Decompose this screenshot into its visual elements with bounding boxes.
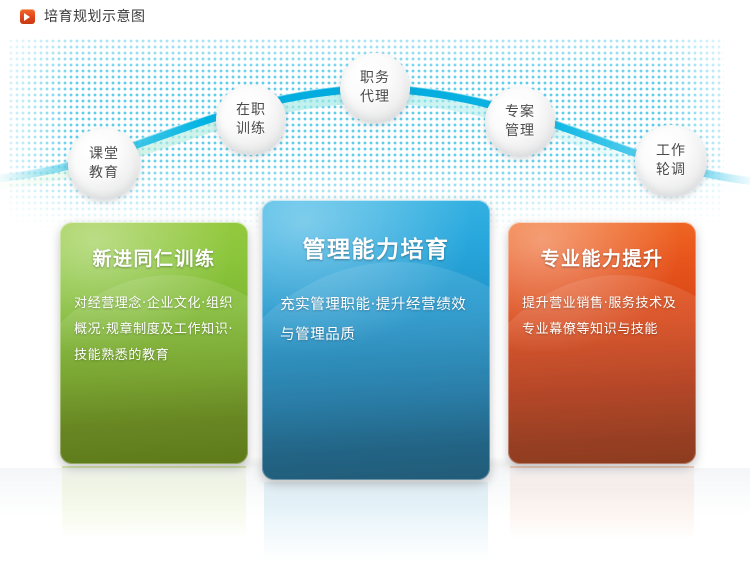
panel-body: 充实管理职能‧提升经营绩效与管理品质 — [280, 290, 474, 350]
panel-professional-capability[interactable]: 专业能力提升 提升营业销售‧服务技术及专业幕僚等知识与技能 — [508, 222, 696, 464]
flow-node-label: 课堂 教育 — [89, 145, 119, 183]
panel-new-employee-training[interactable]: 新进同仁训练 对经营理念‧企业文化‧组织概况‧规章制度及工作知识‧技能熟悉的教育 — [60, 222, 248, 464]
panel-body: 提升营业销售‧服务技术及专业幕僚等知识与技能 — [522, 291, 684, 343]
flow-node-label: 职务 代理 — [360, 69, 390, 107]
flow-node-label-line1: 专案 — [505, 104, 535, 120]
flow-node-classroom-education[interactable]: 课堂 教育 — [68, 128, 140, 200]
flow-node-label-line2: 教育 — [89, 165, 119, 181]
panel-reflection-blue — [264, 482, 488, 562]
flow-node-label-line2: 训练 — [236, 121, 266, 137]
flow-node-label-line2: 管理 — [505, 123, 535, 139]
flow-node-label-line1: 职务 — [360, 70, 390, 86]
panel-reflection-green — [62, 466, 246, 540]
panel-body: 对经营理念‧企业文化‧组织概况‧规章制度及工作知识‧技能熟悉的教育 — [74, 291, 236, 369]
diagram-canvas: 培育规划示意图 — [0, 0, 750, 571]
panel-title: 专业能力提升 — [508, 244, 696, 271]
page-title: 培育规划示意图 — [44, 6, 146, 26]
flow-node-job-rotation[interactable]: 工作 轮调 — [635, 125, 707, 197]
flow-node-project-management[interactable]: 专案 管理 — [485, 87, 555, 157]
flow-node-label-line2: 代理 — [360, 89, 390, 105]
flow-node-label: 在职 训练 — [236, 101, 266, 139]
flow-node-label: 专案 管理 — [505, 103, 535, 141]
panel-title: 管理能力培育 — [262, 230, 490, 264]
flow-node-job-deputy[interactable]: 职务 代理 — [340, 53, 410, 123]
panel-management-capability[interactable]: 管理能力培育 充实管理职能‧提升经营绩效与管理品质 — [262, 200, 490, 480]
flow-node-on-the-job-training[interactable]: 在职 训练 — [216, 85, 286, 155]
panel-reflection-red — [510, 466, 694, 540]
panel-title: 新进同仁训练 — [60, 244, 248, 271]
flow-node-label-line1: 工作 — [656, 143, 686, 159]
flow-node-label-line1: 课堂 — [89, 146, 119, 162]
arrow-right-badge-icon — [20, 9, 35, 24]
flow-node-label-line1: 在职 — [236, 102, 266, 118]
flow-node-label: 工作 轮调 — [656, 142, 686, 180]
flow-node-label-line2: 轮调 — [656, 162, 686, 178]
